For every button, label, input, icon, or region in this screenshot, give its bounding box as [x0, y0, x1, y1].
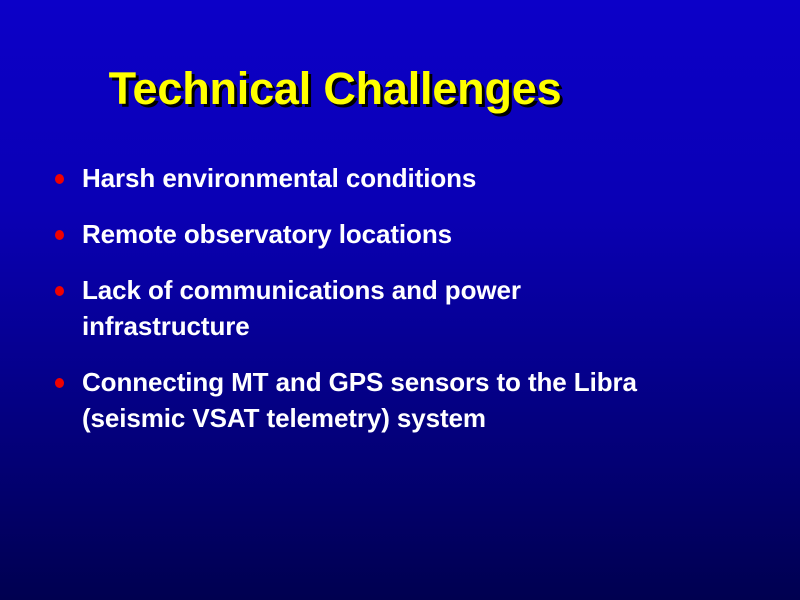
- list-item: Harsh environmental conditions: [52, 160, 752, 196]
- round-bullet-icon: [55, 230, 64, 240]
- list-item-line: infrastructure: [82, 308, 752, 344]
- list-item-text: Connecting MT and GPS sensors to the Lib…: [82, 364, 752, 436]
- presentation-slide: Technical Challenges Harsh environmental…: [0, 0, 800, 600]
- list-item-line: (seismic VSAT telemetry) system: [82, 400, 752, 436]
- list-item-text: Harsh environmental conditions: [82, 160, 752, 196]
- list-item-text: Lack of communications and power infrast…: [82, 272, 752, 344]
- round-bullet-icon: [55, 286, 64, 296]
- list-item-line: Lack of communications and power: [82, 272, 752, 308]
- round-bullet-icon: [55, 174, 64, 184]
- page-title: Technical Challenges: [0, 63, 670, 115]
- list-item-line: Remote observatory locations: [82, 216, 752, 252]
- list-item: Remote observatory locations: [52, 216, 752, 252]
- list-item-line: Harsh environmental conditions: [82, 160, 752, 196]
- round-bullet-icon: [55, 378, 64, 388]
- bullet-list: Harsh environmental conditions Remote ob…: [52, 160, 752, 436]
- list-item: Connecting MT and GPS sensors to the Lib…: [52, 364, 752, 436]
- list-item-text: Remote observatory locations: [82, 216, 752, 252]
- list-item: Lack of communications and power infrast…: [52, 272, 752, 344]
- list-item-line: Connecting MT and GPS sensors to the Lib…: [82, 364, 752, 400]
